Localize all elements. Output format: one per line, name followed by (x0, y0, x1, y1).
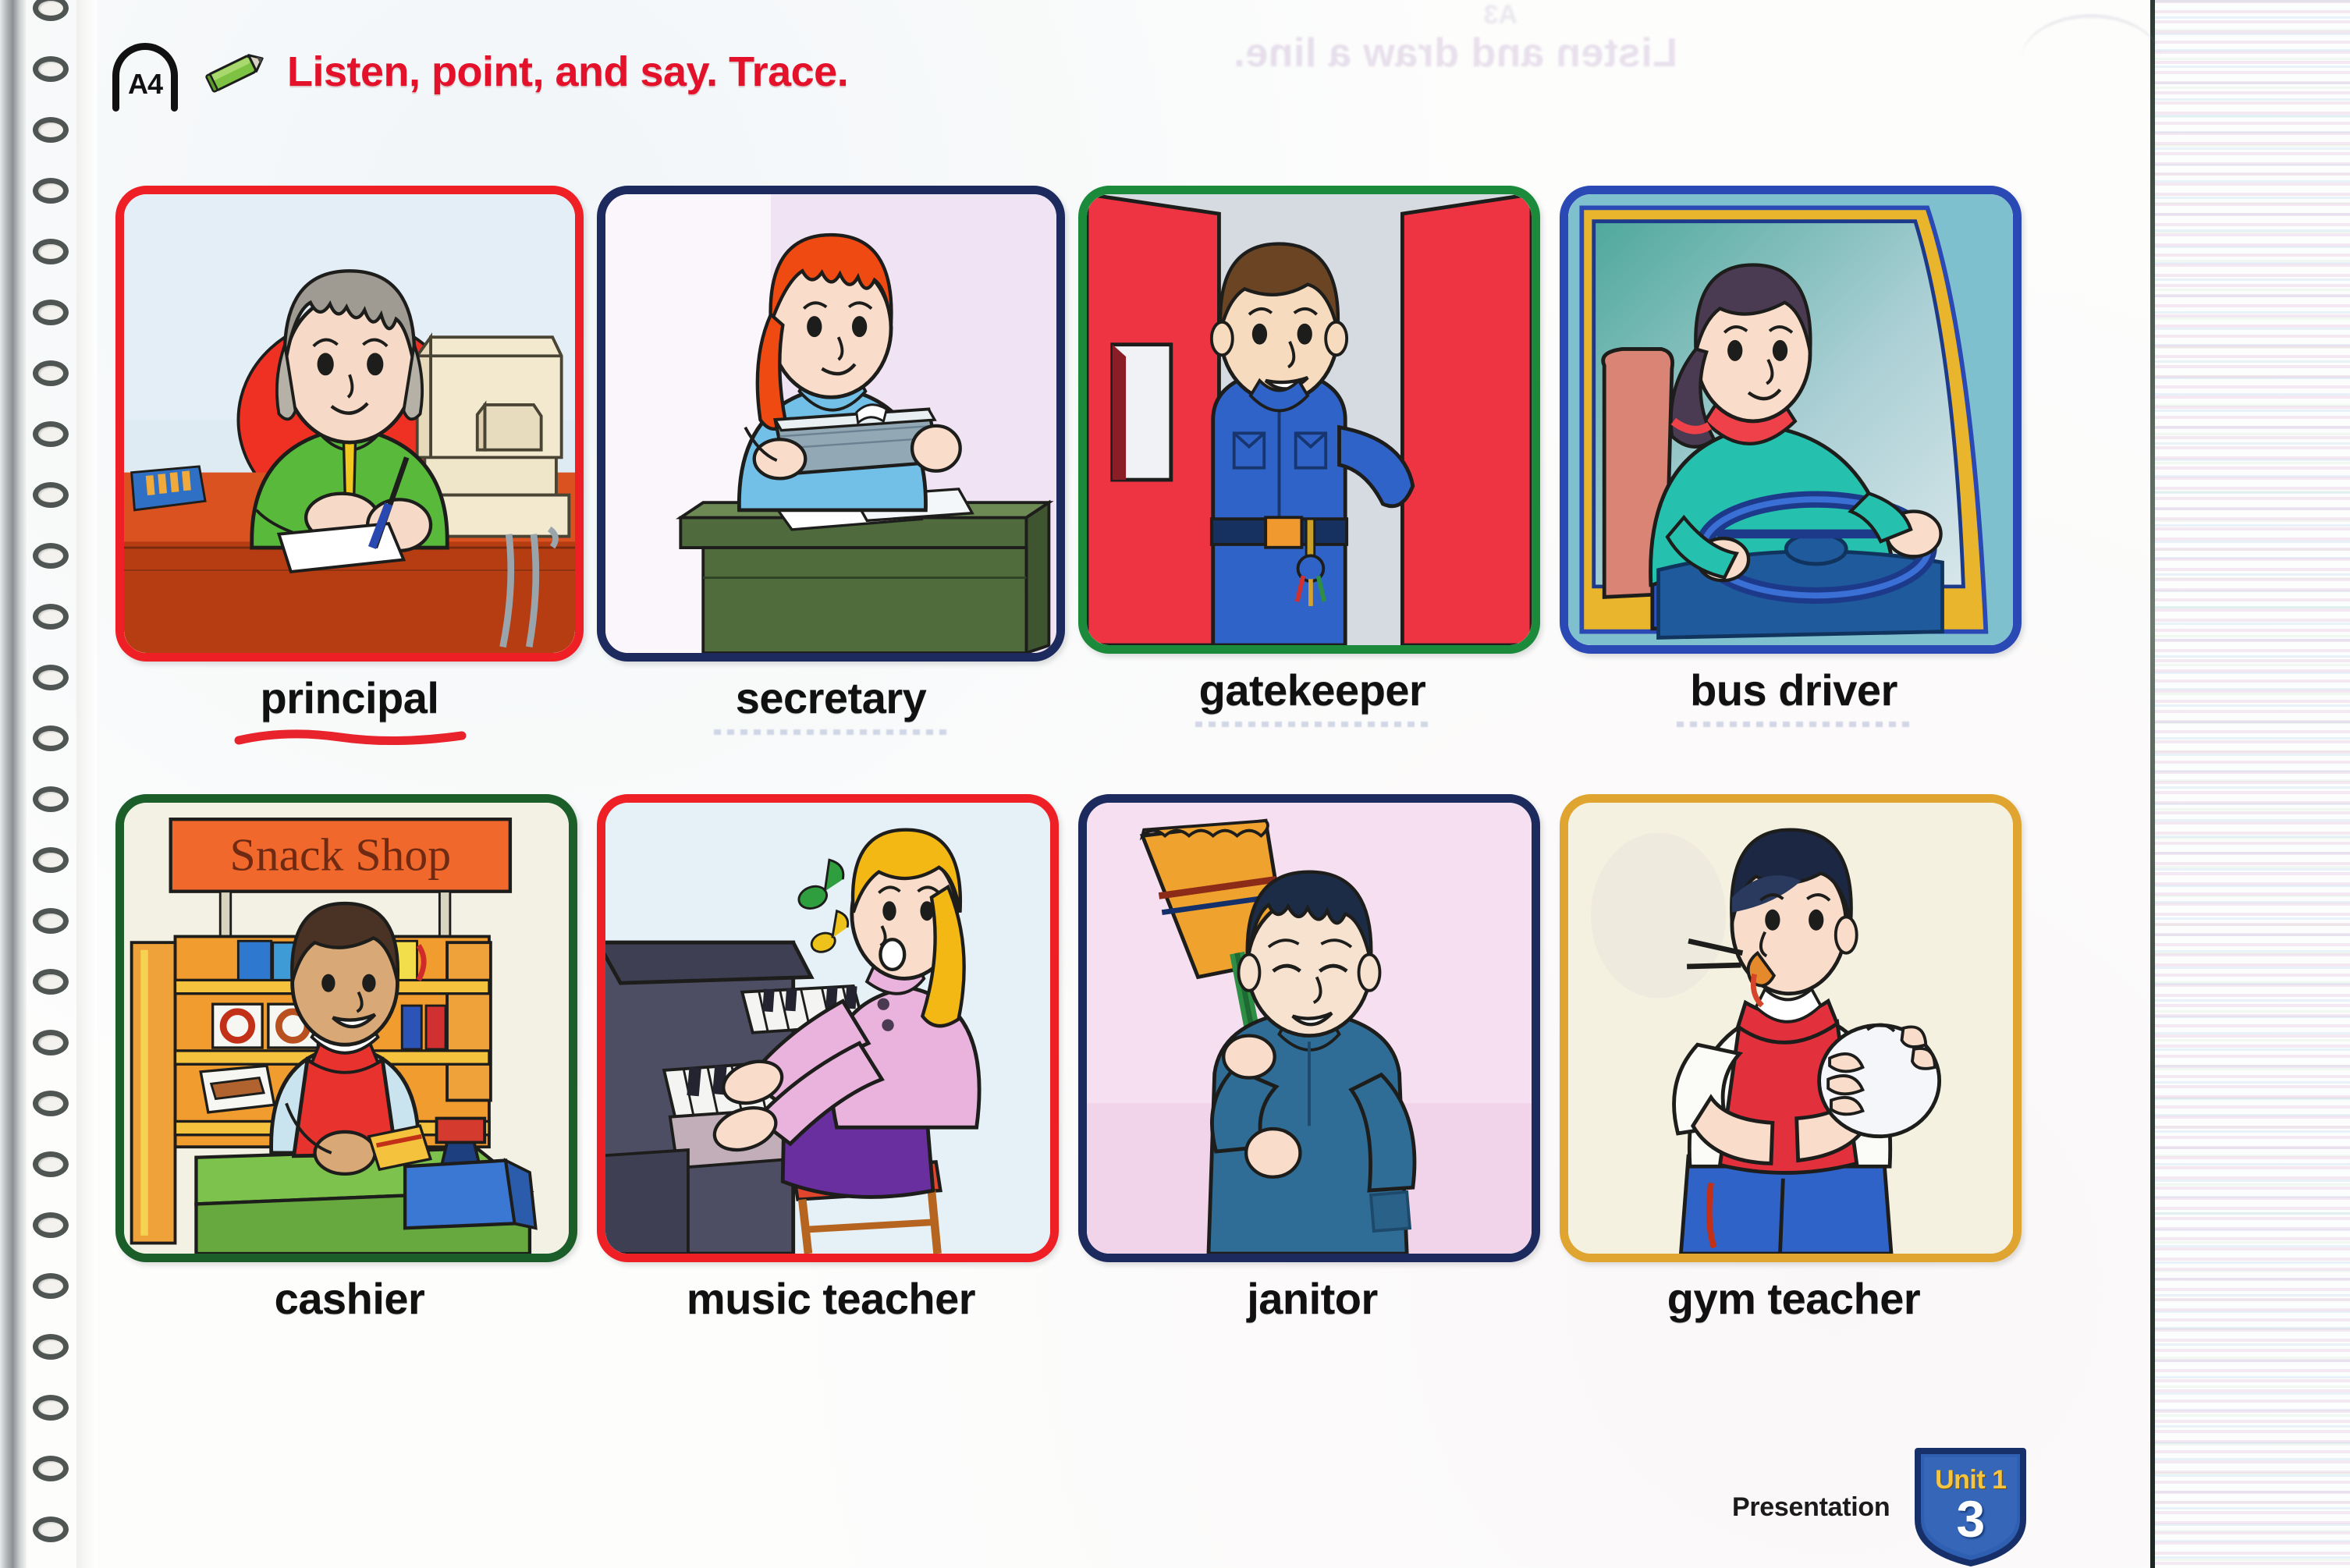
page-footer: Presentation Unit 1 3 (1732, 1445, 2031, 1568)
presentation-label: Presentation (1732, 1492, 1890, 1523)
trace-dotted-line[interactable] (1195, 722, 1429, 727)
bleed-through-text: Listen and draw a line. (1038, 30, 1677, 80)
trace-dotted-line[interactable] (1195, 1330, 1429, 1336)
picture-card-secretary[interactable] (597, 186, 1065, 662)
binding-ring (33, 0, 69, 21)
picture-card-bus-driver[interactable] (1560, 186, 2022, 654)
binding-ring (33, 969, 69, 995)
label-wrap-cashier: cashier (115, 1276, 584, 1336)
vocab-label: secretary (736, 676, 927, 722)
vocab-label: music teacher (687, 1276, 975, 1322)
facing-page-sheet (2155, 0, 2350, 1568)
binding-ring (33, 360, 69, 386)
binding-ring (33, 178, 69, 204)
grid-row-1: principal (115, 186, 2043, 750)
picture-card-gym-teacher[interactable] (1560, 794, 2022, 1262)
vocab-label: gatekeeper (1199, 668, 1426, 714)
page-left-edge (76, 0, 97, 1568)
label-wrap-secretary: secretary (597, 676, 1065, 735)
vocab-cell-secretary[interactable]: secretary (597, 186, 1078, 750)
spiral-binding (27, 0, 76, 1568)
vocab-label: bus driver (1690, 668, 1897, 714)
binding-ring (33, 56, 69, 82)
binding-ring (33, 1395, 69, 1421)
picture-card-cashier[interactable]: Snack Shop (115, 794, 577, 1262)
vocab-cell-cashier[interactable]: Snack Shop (115, 794, 597, 1336)
binding-ring (33, 847, 69, 873)
binding-ring (33, 725, 69, 751)
vocab-cell-bus-driver[interactable]: bus driver (1560, 186, 2041, 750)
picture-card-janitor[interactable] (1078, 794, 1540, 1262)
binding-ring (33, 1456, 69, 1481)
binding-ring (33, 908, 69, 934)
trace-dotted-line[interactable] (714, 1330, 948, 1336)
bleed-through-code: A3 (1400, 0, 1518, 41)
label-wrap-music-teacher: music teacher (597, 1276, 1065, 1336)
label-wrap-principal: principal (115, 676, 584, 750)
green-pencil-icon (198, 48, 270, 95)
binding-ring (33, 117, 69, 143)
unit-shield-badge: Unit 1 3 (1910, 1445, 2031, 1568)
bleed-through-arc-icon (2021, 14, 2161, 69)
instruction-text: Listen, point, and say. Trace. (287, 48, 848, 96)
binding-gutter-shadow (0, 0, 27, 1568)
headphone-arc-icon: A4 (109, 41, 181, 102)
vocab-cell-principal[interactable]: principal (115, 186, 597, 750)
label-wrap-gym-teacher: gym teacher (1560, 1276, 2028, 1336)
grid-row-2: Snack Shop (115, 794, 2043, 1336)
vocab-label: cashier (275, 1276, 425, 1322)
binding-ring (33, 1334, 69, 1360)
picture-card-gatekeeper[interactable] (1078, 186, 1540, 654)
binding-ring (33, 300, 69, 325)
binding-ring (33, 604, 69, 630)
binding-ring (33, 1151, 69, 1177)
label-wrap-janitor: janitor (1078, 1276, 1546, 1336)
trace-dotted-line[interactable] (233, 1330, 467, 1336)
binding-ring (33, 1273, 69, 1299)
workbook-page: Listen and draw a line. A3 A4 Listen, po… (0, 0, 2350, 1568)
binding-ring (33, 1091, 69, 1116)
binding-ring (33, 421, 69, 447)
label-wrap-gatekeeper: gatekeeper (1078, 668, 1546, 727)
binding-ring (33, 482, 69, 508)
vocab-cell-gatekeeper[interactable]: gatekeeper (1078, 186, 1560, 750)
label-wrap-bus-driver: bus driver (1560, 668, 2028, 727)
vocab-label: janitor (1247, 1276, 1378, 1322)
vocabulary-grid: principal (115, 186, 2043, 1336)
binding-ring (33, 1030, 69, 1055)
activity-code-label: A4 (128, 68, 162, 102)
picture-card-music-teacher[interactable] (597, 794, 1059, 1262)
trace-dotted-line[interactable] (1677, 722, 1911, 727)
binding-ring (33, 786, 69, 812)
vocab-cell-music-teacher[interactable]: music teacher (597, 794, 1078, 1336)
trace-dotted-line[interactable] (1677, 1330, 1911, 1336)
binding-ring (33, 239, 69, 264)
picture-card-principal[interactable] (115, 186, 584, 662)
vocab-cell-janitor[interactable]: janitor (1078, 794, 1560, 1336)
snack-shop-sign-text: Snack Shop (230, 828, 452, 880)
hand-drawn-trace-mark (233, 726, 467, 750)
vocab-label: principal (261, 676, 439, 722)
binding-ring (33, 1212, 69, 1238)
trace-dotted-line[interactable] (714, 729, 948, 735)
vocab-label: gym teacher (1667, 1276, 1920, 1322)
binding-ring (33, 1517, 69, 1542)
binding-ring (33, 665, 69, 690)
activity-header: A4 Listen, point, and say. Trace. (109, 36, 848, 108)
vocab-cell-gym-teacher[interactable]: gym teacher (1560, 794, 2041, 1336)
binding-ring (33, 543, 69, 569)
